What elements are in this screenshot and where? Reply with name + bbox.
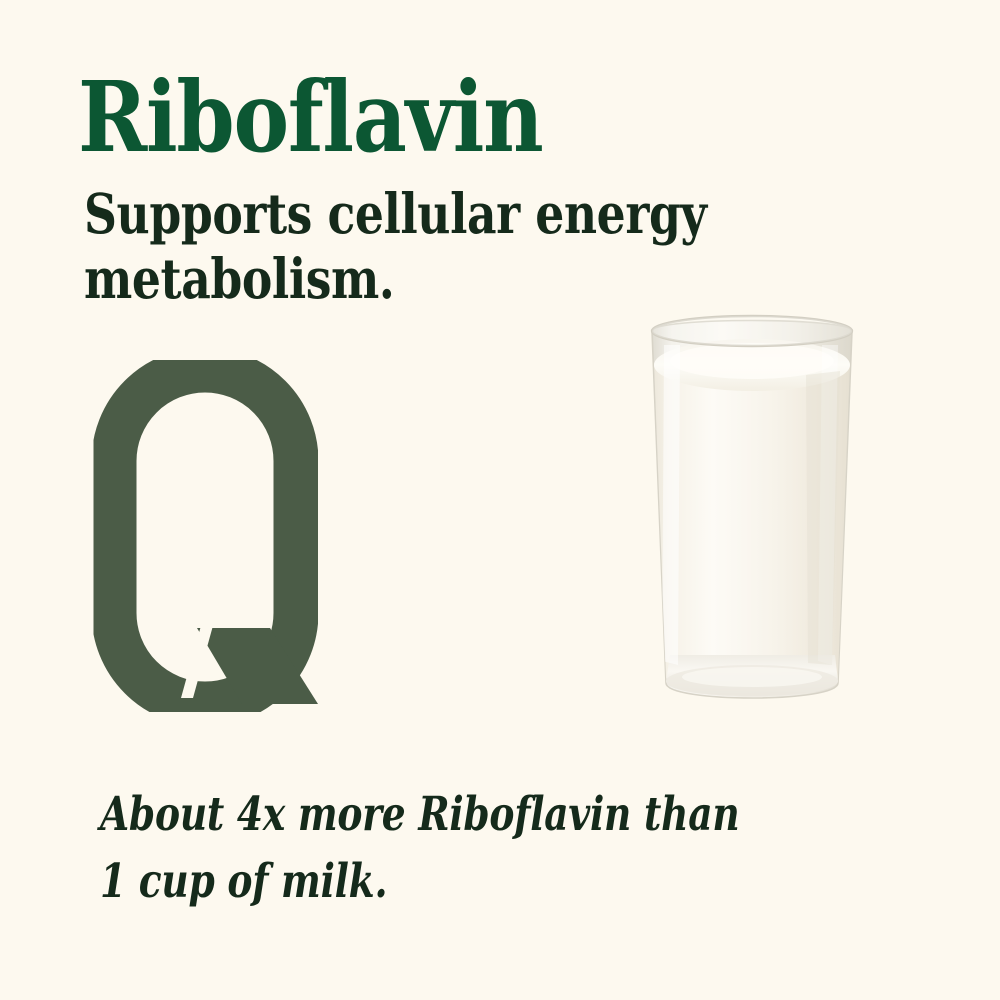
comparison-caption: About 4x more Riboflavin than 1 cup of m… xyxy=(100,782,740,915)
q-letter-logo xyxy=(92,360,318,712)
nutrient-description: Supports cellular energy metabolism. xyxy=(84,182,715,312)
page-title: Riboflavin xyxy=(78,66,800,169)
q-letter-icon xyxy=(92,360,318,712)
nutrient-benefit-card: Riboflavin Supports cellular energy meta… xyxy=(0,0,1000,1000)
glass-of-milk-photo xyxy=(636,305,868,715)
glass-of-milk-image xyxy=(636,305,868,715)
